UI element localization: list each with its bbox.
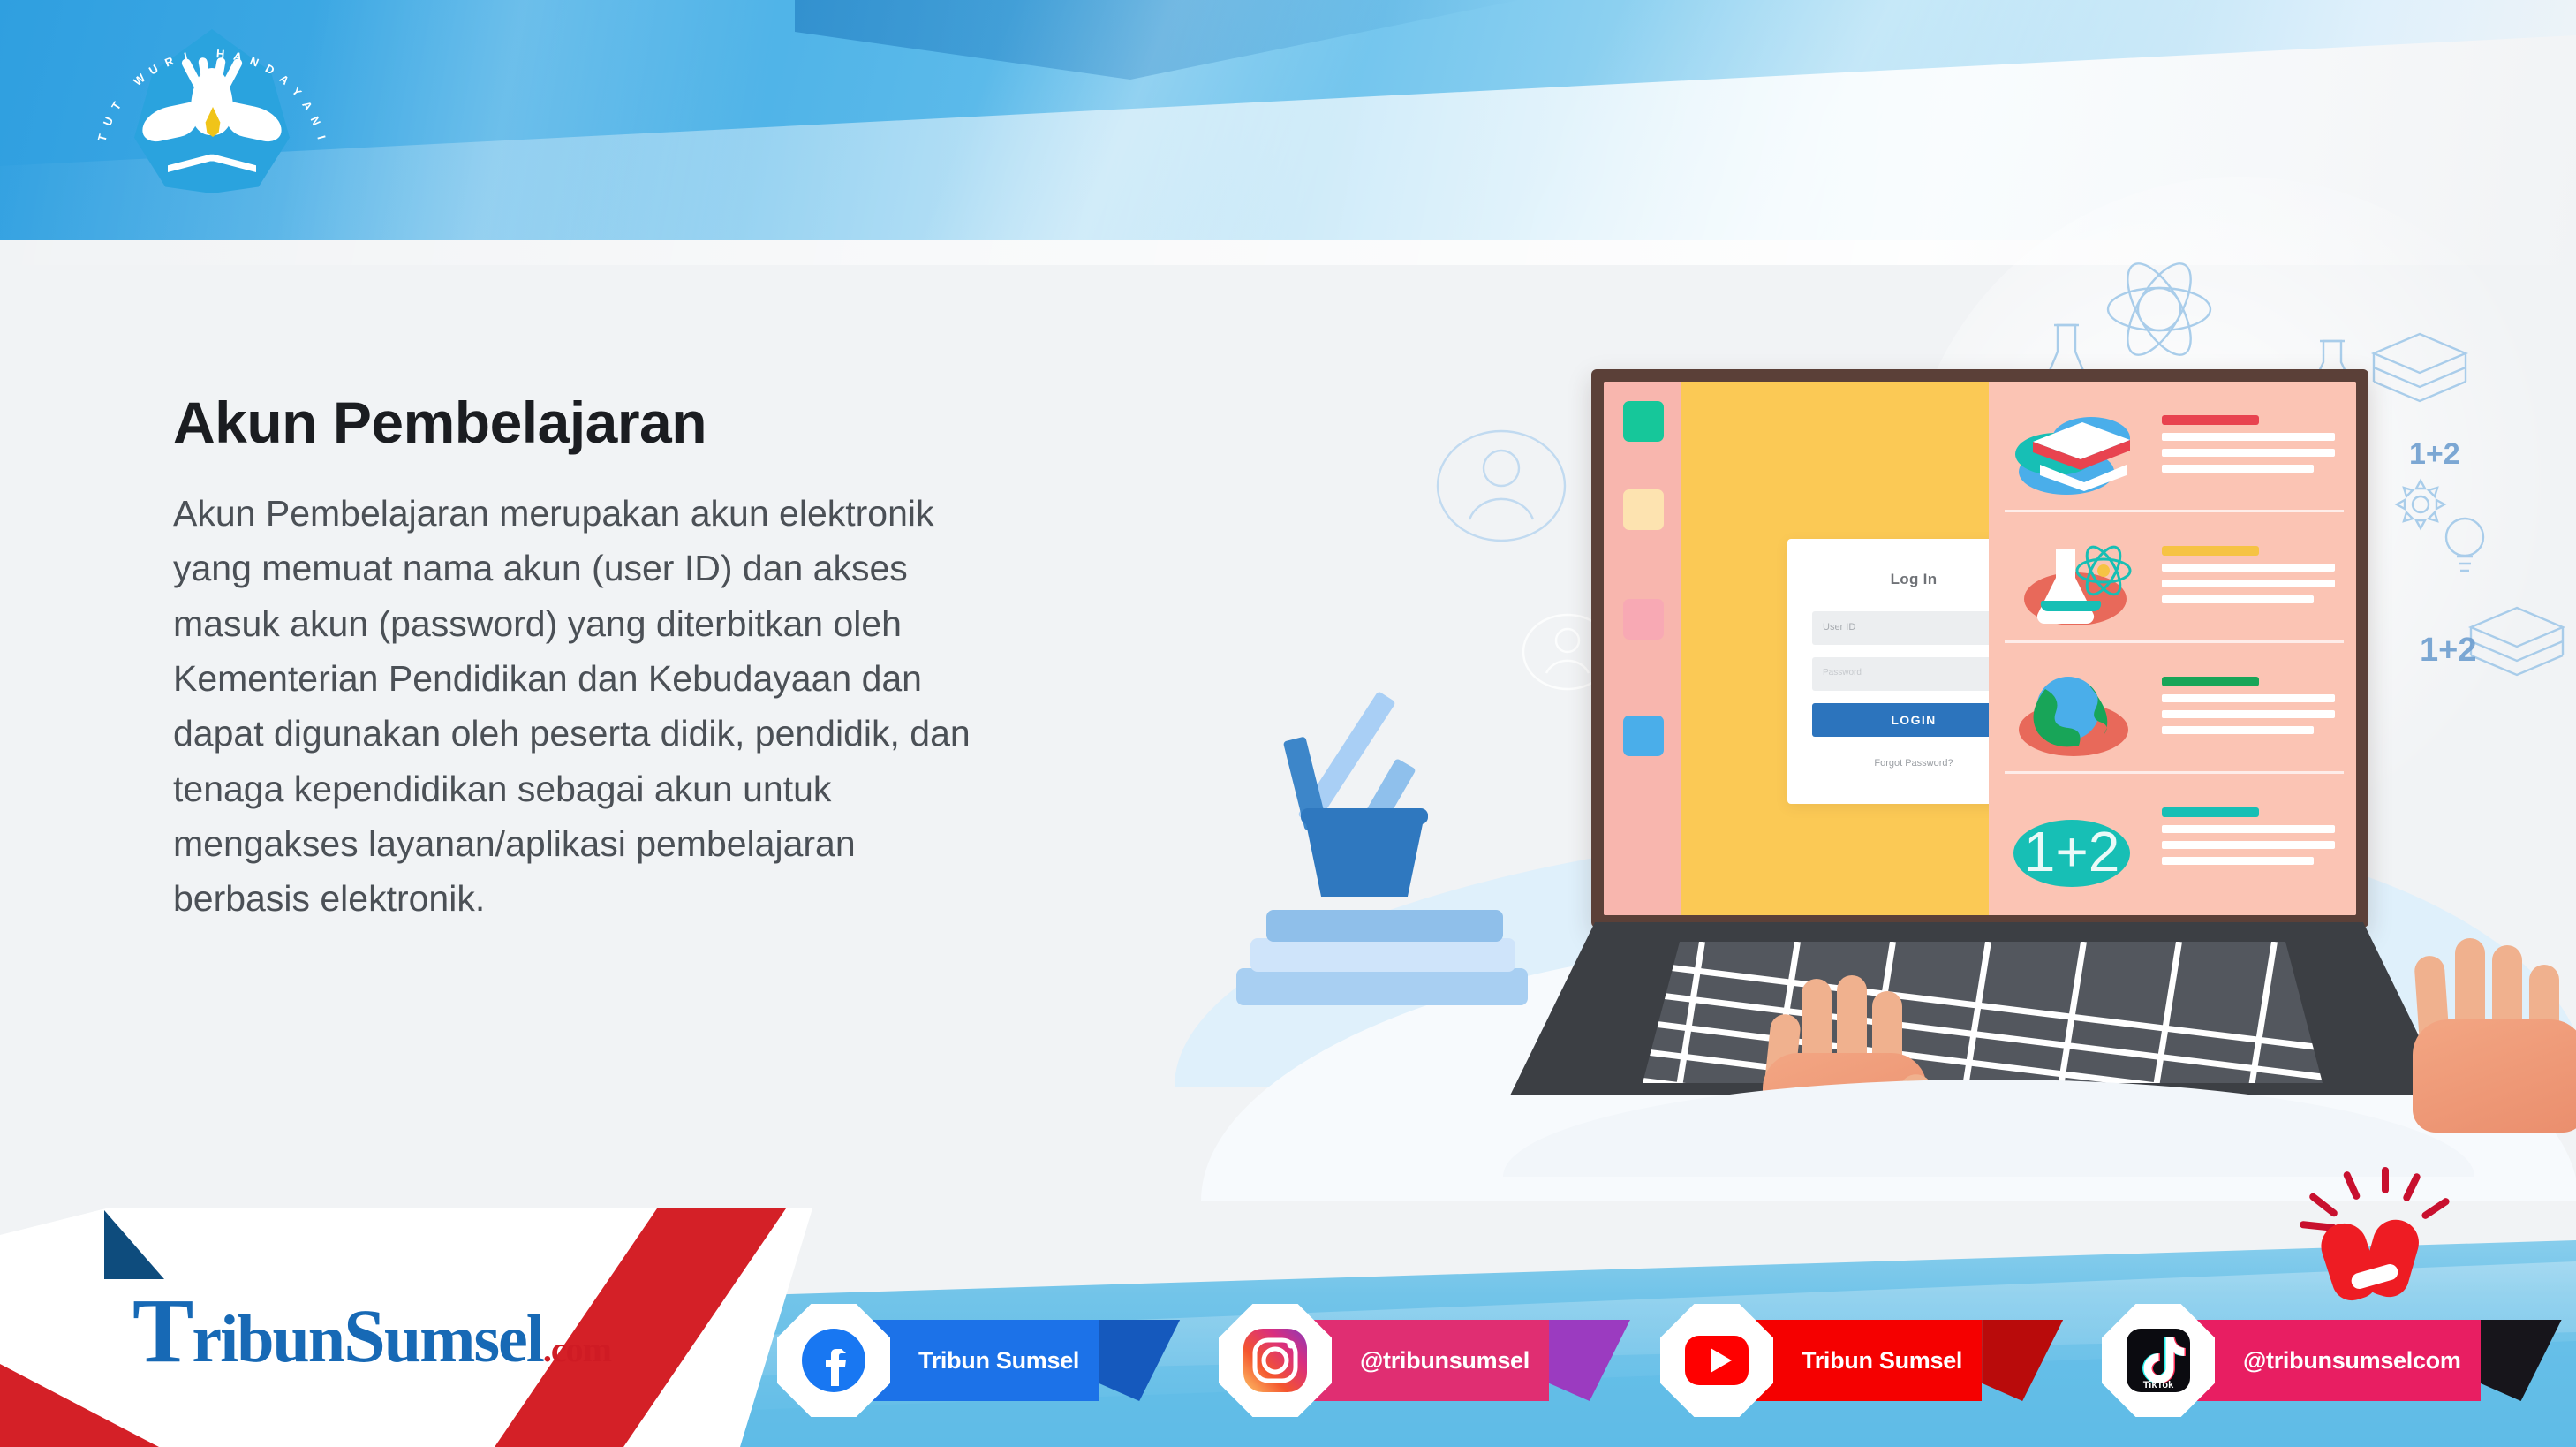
atom-icon bbox=[2102, 256, 2217, 362]
page-title: Akun Pembelajaran bbox=[173, 389, 1003, 456]
social-ribbon-tail bbox=[1099, 1320, 1180, 1401]
row-line bbox=[2162, 825, 2335, 833]
heart-icon bbox=[2324, 1217, 2416, 1302]
books-icon bbox=[2010, 403, 2144, 502]
row-line bbox=[2162, 841, 2335, 849]
cup-body bbox=[1304, 815, 1424, 897]
tut-wuri-handayani-logo: TUT WURI HANDAYANI bbox=[124, 22, 300, 199]
text-column: Akun Pembelajaran Akun Pembelajaran meru… bbox=[173, 389, 1003, 927]
row-title-bar bbox=[2162, 546, 2259, 556]
deco-math-label-1: 1+2 bbox=[2409, 437, 2460, 472]
laptop-keyboard[interactable] bbox=[1643, 942, 2323, 1090]
lightbulb-icon bbox=[2437, 512, 2492, 583]
user-avatar-icon bbox=[1431, 424, 1572, 548]
row-line bbox=[2162, 564, 2335, 572]
row-text-lines bbox=[2162, 807, 2338, 865]
content-list-row[interactable] bbox=[1989, 389, 2356, 512]
row-line bbox=[2162, 580, 2335, 587]
books-stack-icon bbox=[2464, 601, 2570, 689]
laptop-screen: Log In User ID Password LOGIN Forgot Pas… bbox=[1604, 382, 2356, 915]
poster-canvas: TUT WURI HANDAYANI Akun Pembelajaran Aku… bbox=[0, 0, 2576, 1447]
instagram-icon[interactable] bbox=[1242, 1327, 1309, 1394]
deco-math-label-2: 1+2 bbox=[2420, 632, 2476, 670]
row-line bbox=[2162, 433, 2335, 441]
row-line bbox=[2162, 465, 2314, 473]
row-line bbox=[2162, 726, 2314, 734]
row-line bbox=[2162, 710, 2335, 718]
row-line bbox=[2162, 694, 2335, 702]
row-separator bbox=[2005, 510, 2344, 512]
row-title-bar bbox=[2162, 807, 2259, 817]
hand-right bbox=[2407, 938, 2576, 1115]
social-ribbon: @tribunsumselcom bbox=[2174, 1320, 2562, 1401]
social-ribbon: @tribunsumsel bbox=[1291, 1320, 1630, 1401]
row-text-lines bbox=[2162, 415, 2338, 473]
keyboard-col-line bbox=[1674, 942, 1705, 1090]
login-button[interactable]: LOGIN bbox=[1812, 703, 2015, 737]
password-field[interactable]: Password bbox=[1812, 657, 2015, 691]
social-handle: @tribunsumselcom bbox=[2174, 1320, 2481, 1401]
social-ribbon-tail bbox=[1549, 1320, 1630, 1401]
login-panel: Log In User ID Password LOGIN Forgot Pas… bbox=[1681, 382, 1989, 915]
keyboard-col-line bbox=[2151, 942, 2182, 1090]
row-line bbox=[2162, 857, 2314, 865]
logo-letter-s: S bbox=[344, 1293, 384, 1378]
app-sidebar bbox=[1604, 382, 1681, 915]
content-list-row[interactable] bbox=[1989, 519, 2356, 643]
math-1plus2-icon: 1+2 bbox=[2010, 795, 2144, 894]
pencil-cup bbox=[1285, 746, 1444, 888]
content-list-panel: 1+2 bbox=[1989, 382, 2356, 915]
row-line bbox=[2162, 449, 2335, 457]
social-ribbon-tail bbox=[1982, 1320, 2063, 1401]
logo-word-umsel: umsel bbox=[384, 1302, 543, 1376]
content-list-row[interactable] bbox=[1989, 650, 2356, 774]
tribun-sumsel-logo[interactable]: TribunSumsel.com bbox=[132, 1301, 611, 1378]
userid-placeholder: User ID bbox=[1823, 622, 1855, 633]
globe-icon bbox=[2010, 664, 2144, 763]
page-body-text: Akun Pembelajaran merupakan akun elektro… bbox=[173, 486, 972, 927]
content-list-row[interactable]: 1+2 bbox=[1989, 781, 2356, 905]
sidebar-item-1[interactable] bbox=[1623, 489, 1664, 530]
youtube-icon[interactable] bbox=[1683, 1327, 1750, 1394]
userid-field[interactable]: User ID bbox=[1812, 611, 2015, 645]
row-line bbox=[2162, 595, 2314, 603]
social-ribbon: Tribun Sumsel bbox=[850, 1320, 1180, 1401]
laptop-screen-bezel: Log In User ID Password LOGIN Forgot Pas… bbox=[1591, 369, 2368, 928]
sidebar-item-3[interactable] bbox=[1623, 716, 1664, 756]
svg-text:1+2: 1+2 bbox=[2024, 820, 2120, 883]
flask-atom-icon bbox=[2010, 534, 2144, 633]
social-ribbon: Tribun Sumsel bbox=[1733, 1320, 2063, 1401]
sidebar-item-2[interactable] bbox=[1623, 599, 1664, 640]
row-text-lines bbox=[2162, 546, 2338, 603]
row-title-bar bbox=[2162, 415, 2259, 425]
password-placeholder: Password bbox=[1823, 668, 1862, 678]
sidebar-item-0[interactable] bbox=[1623, 401, 1664, 442]
svg-text:TikTok: TikTok bbox=[2143, 1380, 2174, 1390]
facebook-icon[interactable] bbox=[800, 1327, 867, 1394]
blue-books-stack bbox=[1236, 883, 1563, 1016]
logo-word-ribun: ribun bbox=[192, 1302, 344, 1376]
row-separator bbox=[2005, 771, 2344, 774]
row-title-bar bbox=[2162, 677, 2259, 686]
books-stack-icon bbox=[2367, 327, 2473, 415]
row-text-lines bbox=[2162, 677, 2338, 734]
social-ribbon-tail bbox=[2481, 1320, 2562, 1401]
logo-domain: .com bbox=[543, 1330, 611, 1369]
row-separator bbox=[2005, 640, 2344, 643]
tiktok-icon[interactable]: TikTok bbox=[2125, 1327, 2192, 1394]
logo-letter-t: T bbox=[132, 1280, 192, 1382]
applause-heart-graphic bbox=[2287, 1175, 2464, 1334]
